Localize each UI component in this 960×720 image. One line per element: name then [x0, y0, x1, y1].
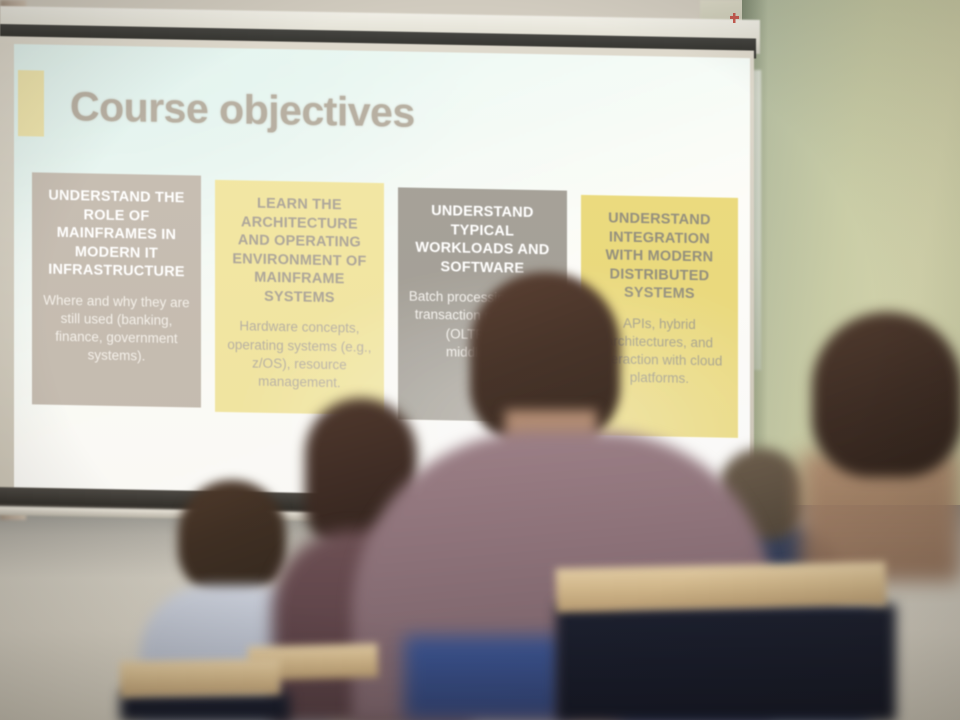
objective-card: UNDERSTAND THE ROLE OF MAINFRAMES IN MOD… [32, 172, 201, 407]
card-body: Where and why they are still used (banki… [42, 291, 191, 367]
card-heading: LEARN THE ARCHITECTURE AND OPERATING ENV… [225, 194, 374, 308]
desk [556, 562, 887, 613]
objective-card-list: UNDERSTAND THE ROLE OF MAINFRAMES IN MOD… [32, 172, 738, 431]
student-far-right-head [812, 312, 960, 477]
slide-title: Course objectives [70, 83, 415, 137]
objective-card: LEARN THE ARCHITECTURE AND OPERATING ENV… [215, 180, 384, 415]
card-heading: UNDERSTAND TYPICAL WORKLOADS AND SOFTWAR… [408, 202, 557, 279]
desk [120, 659, 281, 698]
desk-shadow [556, 604, 896, 720]
lecture-hall-photo: Course objectives UNDERSTAND THE ROLE OF… [0, 0, 960, 720]
student-front-left-head [178, 480, 286, 596]
chair [404, 636, 564, 720]
card-heading: UNDERSTAND THE ROLE OF MAINFRAMES IN MOD… [42, 187, 191, 283]
slide-accent-bar [18, 70, 44, 136]
red-logo-icon [730, 13, 739, 23]
card-heading: UNDERSTAND INTEGRATION WITH MODERN DISTR… [591, 209, 728, 304]
card-body: Hardware concepts, operating systems (e.… [225, 317, 374, 393]
